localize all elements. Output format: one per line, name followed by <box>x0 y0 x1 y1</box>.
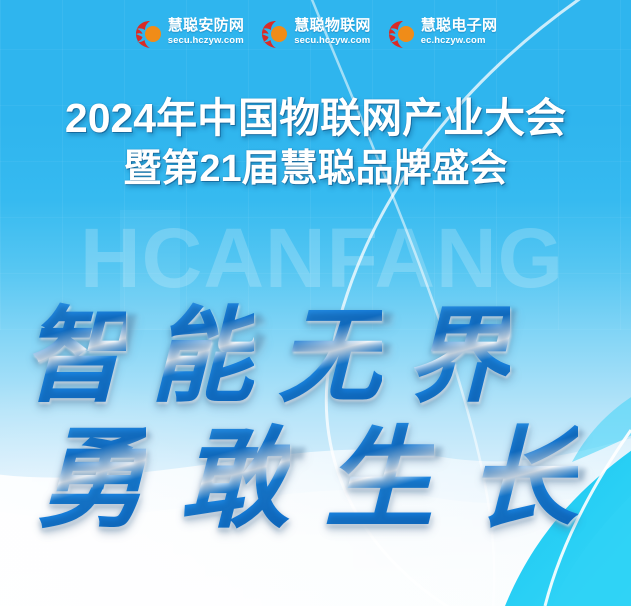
title-line-1: 2024年中国物联网产业大会 <box>0 92 631 144</box>
slogan-char: 无 <box>278 300 382 412</box>
slogan-block: 智 能 无 界 勇 敢 生 长 <box>0 300 631 538</box>
huicong-flame-sun-logo-icon <box>260 19 290 49</box>
logo-bar: 慧聪安防网 secu.hczyw.com 慧聪物联网 secu.hczyw.co… <box>0 18 631 49</box>
slogan-char: 界 <box>406 300 510 412</box>
slogan-char: 能 <box>150 300 254 412</box>
site-logo-name: 慧聪安防网 <box>168 18 245 34</box>
slogan-line-1: 智 能 无 界 <box>0 300 631 412</box>
site-logo-name: 慧聪电子网 <box>421 18 498 34</box>
conference-poster: HCANFANG 慧聪安防网 secu.hczyw.com <box>0 0 631 606</box>
huicong-flame-sun-logo-icon <box>134 19 164 49</box>
slogan-char: 勇 <box>36 420 146 538</box>
site-logo-name: 慧聪物联网 <box>294 18 371 34</box>
watermark-text: HCANFANG <box>22 216 622 300</box>
title-line-2: 暨第21届慧聪品牌盛会 <box>0 144 631 194</box>
slogan-char: 敢 <box>180 420 290 538</box>
site-logo-anfang[interactable]: 慧聪安防网 secu.hczyw.com <box>134 18 245 49</box>
slogan-line-2: 勇 敢 生 长 <box>0 420 631 538</box>
huicong-flame-sun-logo-icon <box>387 19 417 49</box>
site-logo-url: secu.hczyw.com <box>168 35 245 47</box>
conference-title: 2024年中国物联网产业大会 暨第21届慧聪品牌盛会 <box>0 92 631 194</box>
slogan-char: 长 <box>468 420 578 538</box>
slogan-char: 生 <box>324 420 434 538</box>
site-logo-url: secu.hczyw.com <box>294 35 371 47</box>
site-logo-url: ec.hczyw.com <box>421 35 498 47</box>
site-logo-wulianwang[interactable]: 慧聪物联网 secu.hczyw.com <box>260 18 371 49</box>
site-logo-dianzi[interactable]: 慧聪电子网 ec.hczyw.com <box>387 18 498 49</box>
slogan-char: 智 <box>22 300 126 412</box>
